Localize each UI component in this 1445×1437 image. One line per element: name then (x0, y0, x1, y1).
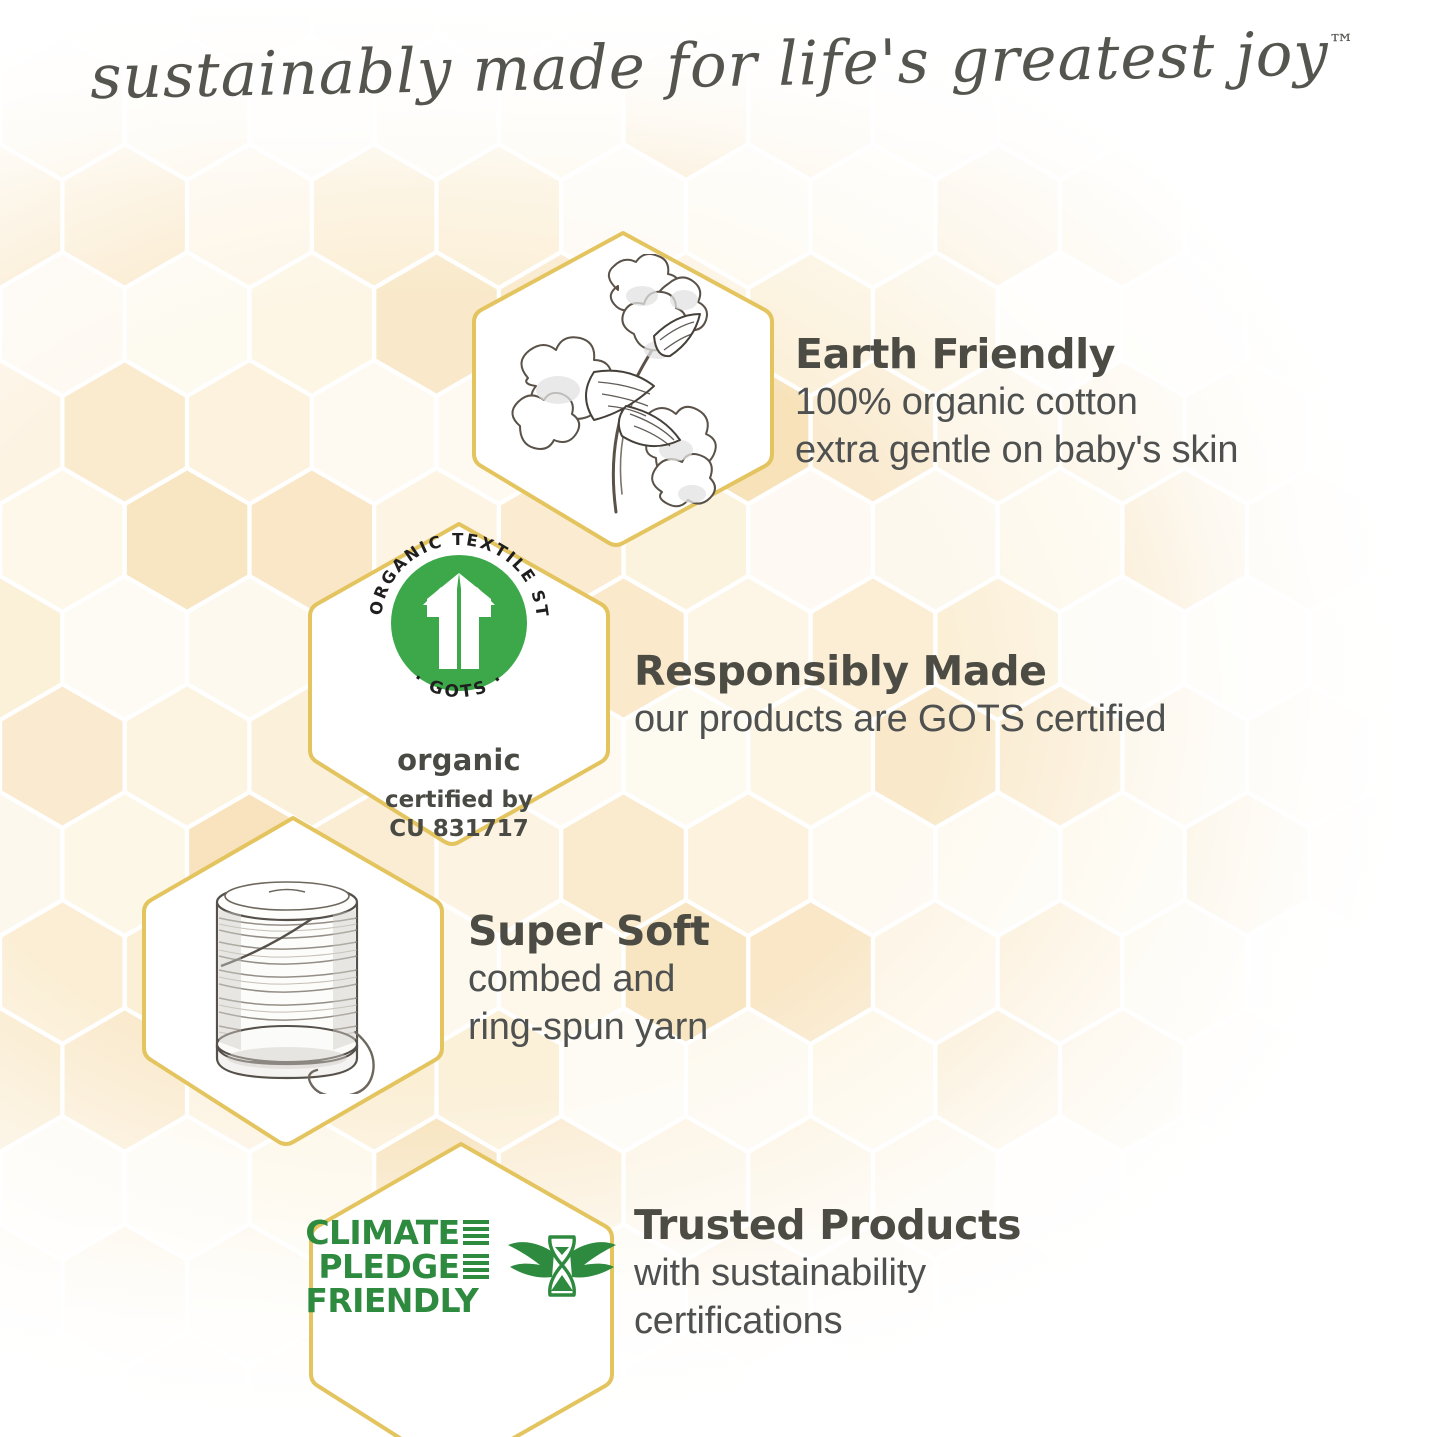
feature-line-1: 100% organic cotton (795, 378, 1238, 427)
cotton-branch-icon (498, 254, 748, 522)
gots-certified-by: certified by (385, 786, 533, 814)
winged-hourglass-icon (506, 1225, 618, 1309)
thread-spool-icon (183, 862, 398, 1094)
gots-organic-label: organic (397, 743, 521, 777)
gots-seal: GLOBAL ORGANIC TEXTILE STANDARD · GOTS · (353, 517, 565, 729)
hexagon-card-responsibly-made: GLOBAL ORGANIC TEXTILE STANDARD · GOTS ·… (302, 518, 616, 848)
feature-line-1: our products are GOTS certified (634, 695, 1166, 744)
cpf-bars-icon (463, 1254, 489, 1279)
feature-title: Super Soft (468, 908, 710, 955)
feature-text-super-soft: Super Soft combed and ring-spun yarn (468, 908, 710, 1052)
feature-text-trusted-products: Trusted Products with sustainability cer… (634, 1202, 1021, 1346)
gots-certification-icon: GLOBAL ORGANIC TEXTILE STANDARD · GOTS ·… (353, 517, 565, 842)
cpf-line-2: PLEDGE (318, 1250, 459, 1284)
hexagon-card-earth-friendly (466, 227, 780, 549)
feature-line-1: combed and (468, 955, 710, 1004)
feature-title: Earth Friendly (795, 331, 1238, 378)
cpf-line-1: CLIMATE (305, 1216, 459, 1250)
feature-text-responsibly-made: Responsibly Made our products are GOTS c… (634, 648, 1166, 743)
feature-title: Responsibly Made (634, 648, 1166, 695)
feature-line-2: extra gentle on baby's skin (795, 426, 1238, 475)
feature-title: Trusted Products (634, 1202, 1021, 1249)
feature-line-2: ring-spun yarn (468, 1003, 710, 1052)
trademark-symbol: ™ (1328, 30, 1355, 60)
infographic-root: sustainably made for life's greatest joy… (0, 0, 1445, 1437)
cpf-bars-icon (463, 1220, 489, 1245)
hexagon-card-trusted-products: CLIMATE PLEDGE FRIENDLY (303, 1138, 620, 1437)
climate-pledge-friendly-icon: CLIMATE PLEDGE FRIENDLY (305, 1216, 617, 1318)
feature-line-1: with sustainability (634, 1249, 1021, 1298)
hexagon-card-super-soft (136, 812, 450, 1148)
feature-text-earth-friendly: Earth Friendly 100% organic cotton extra… (795, 331, 1238, 475)
feature-line-2: certifications (634, 1297, 1021, 1346)
cpf-line-3: FRIENDLY (305, 1284, 478, 1318)
